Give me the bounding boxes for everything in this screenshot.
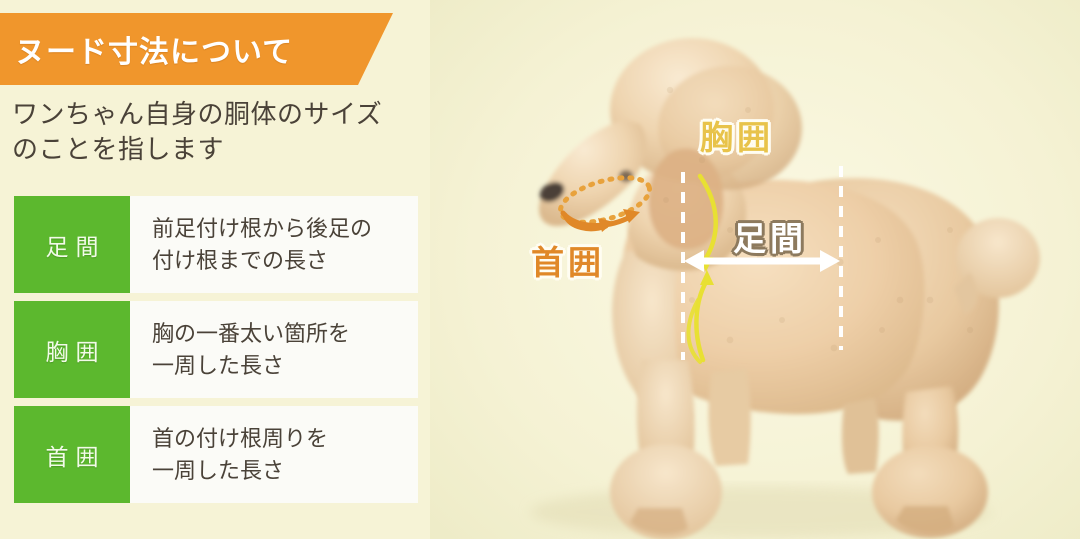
infographic-root: 胸囲 首囲 足間 ヌード寸法について ワンちゃん自身の胴体のサイズ のことを指し… bbox=[0, 0, 1080, 539]
row-label-ashima: 足間 bbox=[14, 196, 130, 293]
row-desc-line-2: 一周した長さ bbox=[152, 455, 418, 487]
neck-overlay-label: 首囲 bbox=[531, 236, 605, 284]
dog-photo bbox=[430, 0, 1080, 539]
lead-line-2: のことを指します bbox=[12, 132, 432, 167]
row-desc-line-1: 首の付け根周りを bbox=[152, 423, 418, 455]
row-desc-line-1: 胸の一番太い箇所を bbox=[152, 318, 418, 350]
table-row: 足間 前足付け根から後足の 付け根までの長さ bbox=[14, 196, 418, 293]
measurement-definition-table: 足間 前足付け根から後足の 付け根までの長さ 胸囲 胸の一番太い箇所を 一周した… bbox=[14, 196, 418, 511]
row-label-kyoui: 胸囲 bbox=[14, 301, 130, 398]
banner-title: ヌード寸法について bbox=[0, 27, 293, 71]
row-desc-line-2: 一周した長さ bbox=[152, 350, 418, 382]
header-banner: ヌード寸法について bbox=[0, 13, 393, 85]
row-label-kubii: 首囲 bbox=[14, 406, 130, 503]
chest-overlay-label: 胸囲 bbox=[700, 111, 774, 159]
row-desc-ashima: 前足付け根から後足の 付け根までの長さ bbox=[130, 196, 418, 293]
row-desc-line-1: 前足付け根から後足の bbox=[152, 213, 418, 245]
lead-paragraph: ワンちゃん自身の胴体のサイズ のことを指します bbox=[12, 97, 432, 167]
table-row: 胸囲 胸の一番太い箇所を 一周した長さ bbox=[14, 301, 418, 398]
dog-photo-panel bbox=[430, 0, 1080, 539]
row-desc-kubii: 首の付け根周りを 一周した長さ bbox=[130, 406, 418, 503]
row-desc-kyoui: 胸の一番太い箇所を 一周した長さ bbox=[130, 301, 418, 398]
lead-line-1: ワンちゃん自身の胴体のサイズ bbox=[12, 97, 432, 132]
table-row: 首囲 首の付け根周りを 一周した長さ bbox=[14, 406, 418, 503]
row-desc-line-2: 付け根までの長さ bbox=[152, 245, 418, 277]
legspan-overlay-label: 足間 bbox=[733, 212, 807, 260]
